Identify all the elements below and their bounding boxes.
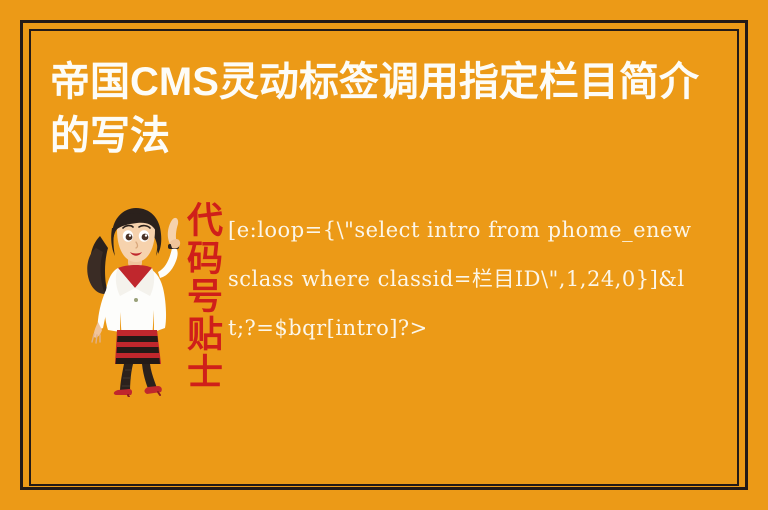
code-snippet: [e:loop={\"select intro from phome_enews… <box>228 206 696 353</box>
vertical-accent-label: 代码号贴士 <box>170 196 222 396</box>
poster-canvas: 帝国CMS灵动标签调用指定栏目简介的写法 <box>0 0 768 510</box>
page-title: 帝国CMS灵动标签调用指定栏目简介的写法 <box>50 55 710 163</box>
